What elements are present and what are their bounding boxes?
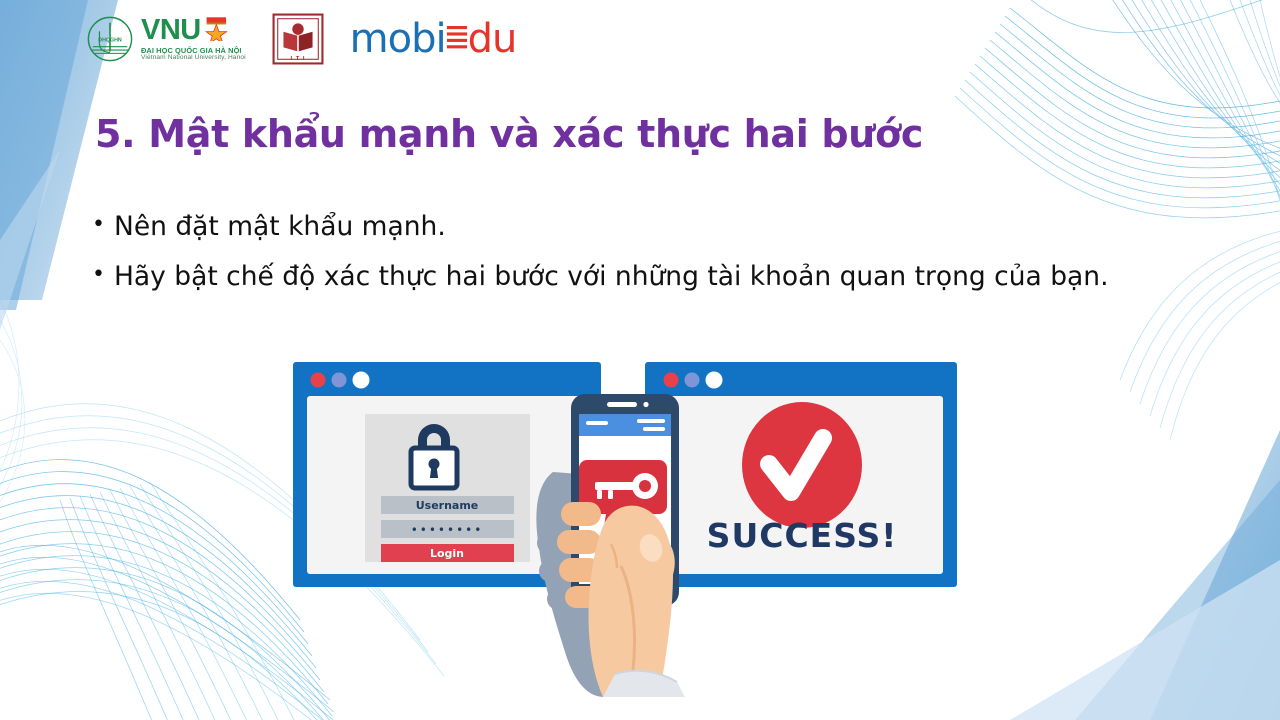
vnu-seal-text: ĐHQGHN: [98, 37, 122, 43]
window-dot-white: [706, 372, 723, 389]
vnu-acronym: VNU: [141, 16, 201, 45]
mobiedu-logo: mobi du: [350, 19, 517, 59]
window-dot-white: [353, 372, 370, 389]
iti-label: I T I: [290, 56, 305, 62]
header-logos: ĐHQGHN VNU ĐẠI HỌC QUỐC GIA HÀ NỘI Vietn…: [0, 0, 1280, 78]
two-factor-illustration: Username •••••••• Login: [285, 352, 965, 697]
password-field[interactable]: ••••••••: [381, 520, 514, 538]
mobiedu-e-icon: [446, 22, 468, 52]
bullet-text: Hãy bật chế độ xác thực hai bước với nhữ…: [114, 258, 1109, 296]
vnu-logo: ĐHQGHN VNU ĐẠI HỌC QUỐC GIA HÀ NỘI Vietn…: [86, 15, 246, 63]
window-dot-red: [664, 373, 679, 388]
window-dot-blue: [332, 373, 347, 388]
check-circle-icon: [742, 402, 862, 528]
bullet-marker: •: [92, 208, 114, 242]
list-item: • Nên đặt mật khẩu mạnh.: [92, 208, 1262, 246]
mobiedu-part2: du: [468, 19, 517, 59]
page-title: 5. Mật khẩu mạnh và xác thực hai bước: [95, 112, 923, 156]
username-field[interactable]: Username: [381, 496, 514, 514]
window-dot-blue: [685, 373, 700, 388]
vnu-name-en: Vietnam National University, Hanoi: [141, 55, 246, 62]
window-dot-red: [311, 373, 326, 388]
bullet-text: Nên đặt mật khẩu mạnh.: [114, 208, 446, 246]
login-button[interactable]: Login: [381, 544, 514, 562]
vnu-seal-icon: ĐHQGHN: [86, 15, 134, 63]
iti-logo: I T I: [272, 13, 324, 65]
vietnam-star-flag-icon: [204, 17, 230, 41]
success-window: SUCCESS!: [645, 362, 957, 587]
username-value: Username: [416, 499, 479, 512]
bullet-list: • Nên đặt mật khẩu mạnh. • Hãy bật chế đ…: [92, 208, 1262, 307]
success-label: SUCCESS!: [707, 516, 898, 555]
login-button-label: Login: [430, 547, 464, 560]
vnu-name-vi: ĐẠI HỌC QUỐC GIA HÀ NỘI: [141, 47, 246, 54]
mobiedu-part1: mobi: [350, 19, 446, 59]
password-value: ••••••••: [411, 523, 484, 537]
slide: ĐHQGHN VNU ĐẠI HỌC QUỐC GIA HÀ NỘI Vietn…: [0, 0, 1280, 720]
bullet-marker: •: [92, 258, 114, 292]
list-item: • Hãy bật chế độ xác thực hai bước với n…: [92, 258, 1262, 296]
